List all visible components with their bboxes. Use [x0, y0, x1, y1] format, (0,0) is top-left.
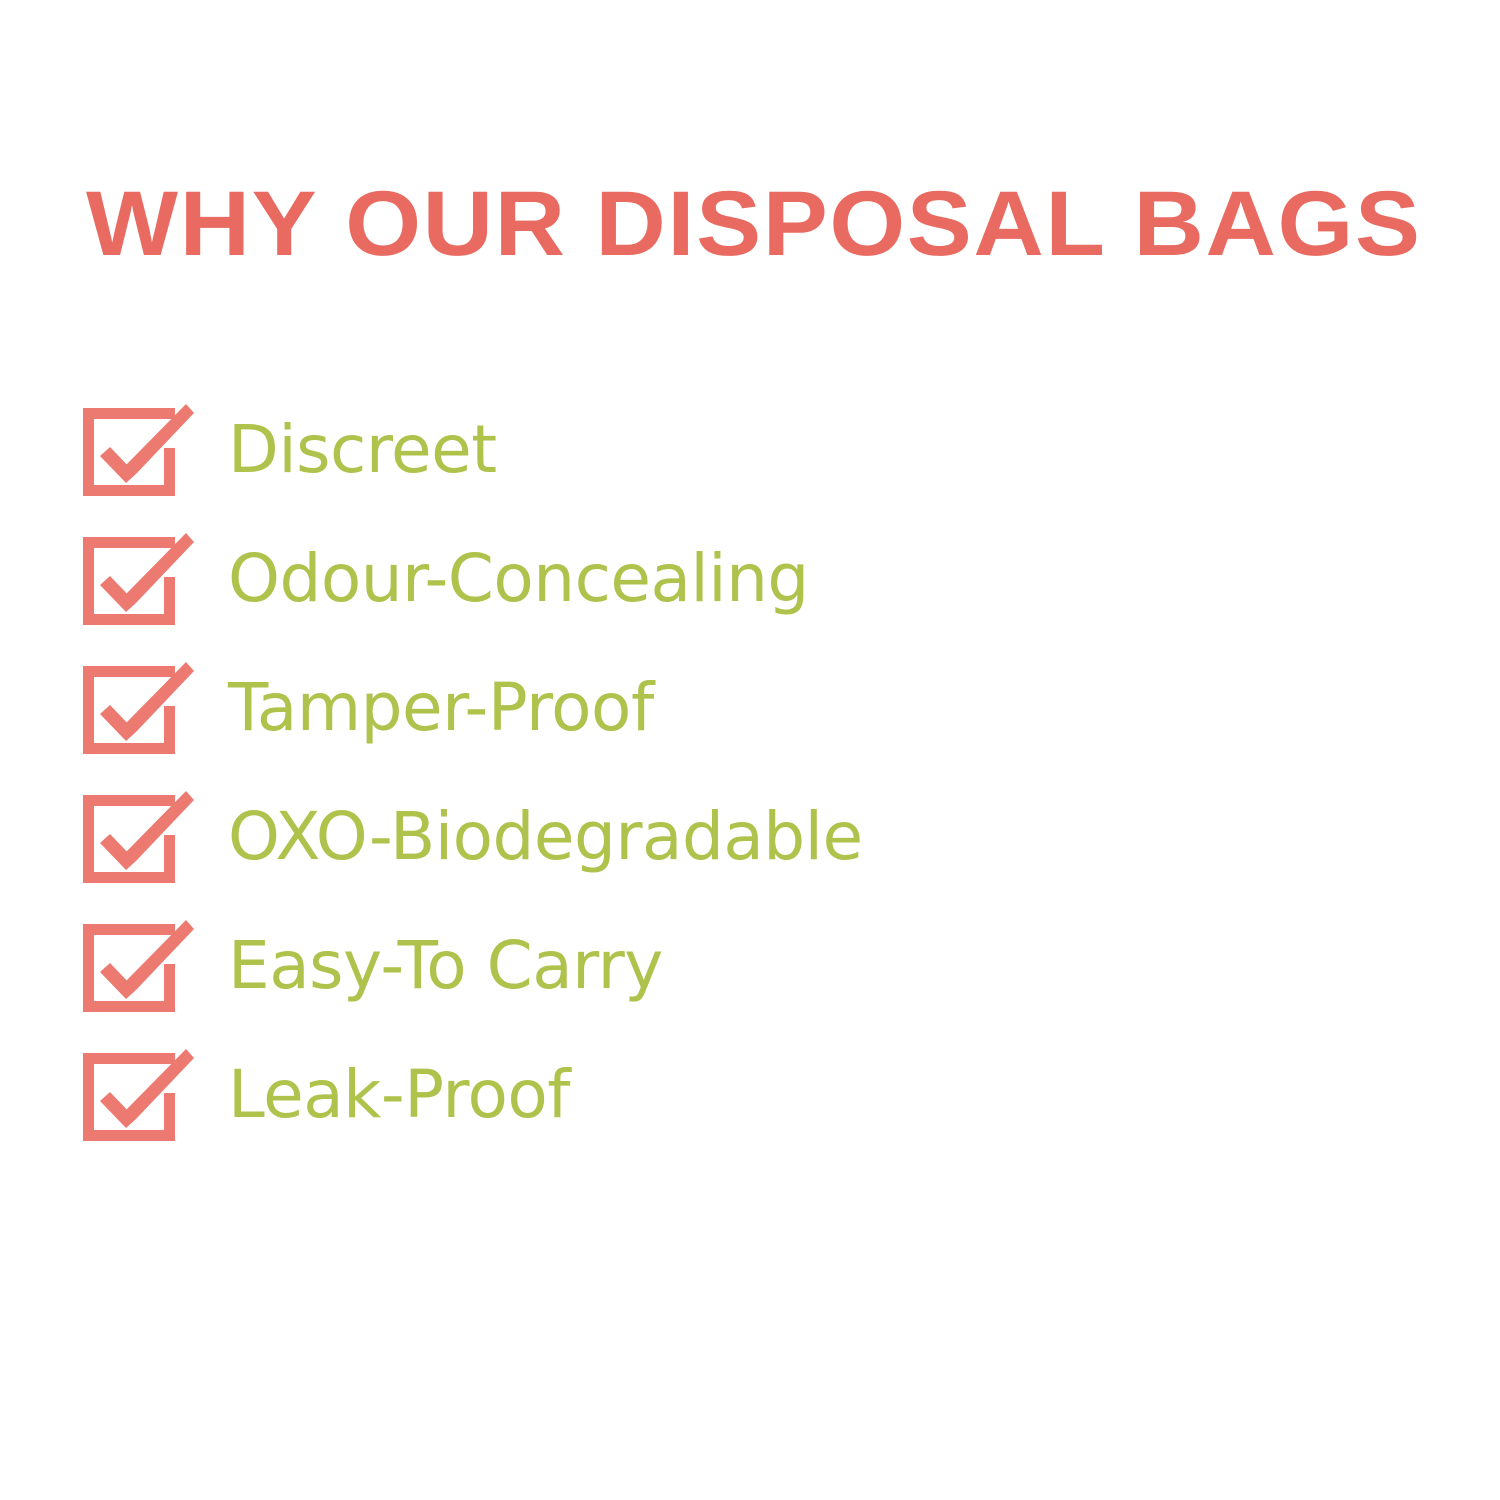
- list-item-label: Discreet: [228, 412, 497, 488]
- list-item-label: Tamper-Proof: [228, 670, 654, 746]
- list-item: Tamper-Proof: [0, 656, 1500, 785]
- list-item-label: Odour-Concealing: [228, 541, 809, 617]
- list-item: Easy-To Carry: [0, 914, 1500, 1043]
- checkbox-checked-icon: [78, 660, 194, 756]
- list-item-label: Easy-To Carry: [228, 928, 663, 1004]
- list-item: Leak-Proof: [0, 1043, 1500, 1172]
- infographic-page: WHY OUR DISPOSAL BAGS Dis: [0, 0, 1500, 1500]
- checkbox-checked-icon: [78, 918, 194, 1014]
- checkbox-checked-icon: [78, 1047, 194, 1143]
- checkbox-checked-icon: [78, 531, 194, 627]
- checkbox-checked-icon: [78, 402, 194, 498]
- list-item: Discreet: [0, 398, 1500, 527]
- list-item-label: OXO-Biodegradable: [228, 799, 863, 875]
- features-checklist: Discreet Odour-Concealing: [0, 398, 1500, 1172]
- list-item: OXO-Biodegradable: [0, 785, 1500, 914]
- list-item-label: Leak-Proof: [228, 1057, 570, 1133]
- checkbox-checked-icon: [78, 789, 194, 885]
- page-title: WHY OUR DISPOSAL BAGS: [86, 176, 1358, 272]
- list-item: Odour-Concealing: [0, 527, 1500, 656]
